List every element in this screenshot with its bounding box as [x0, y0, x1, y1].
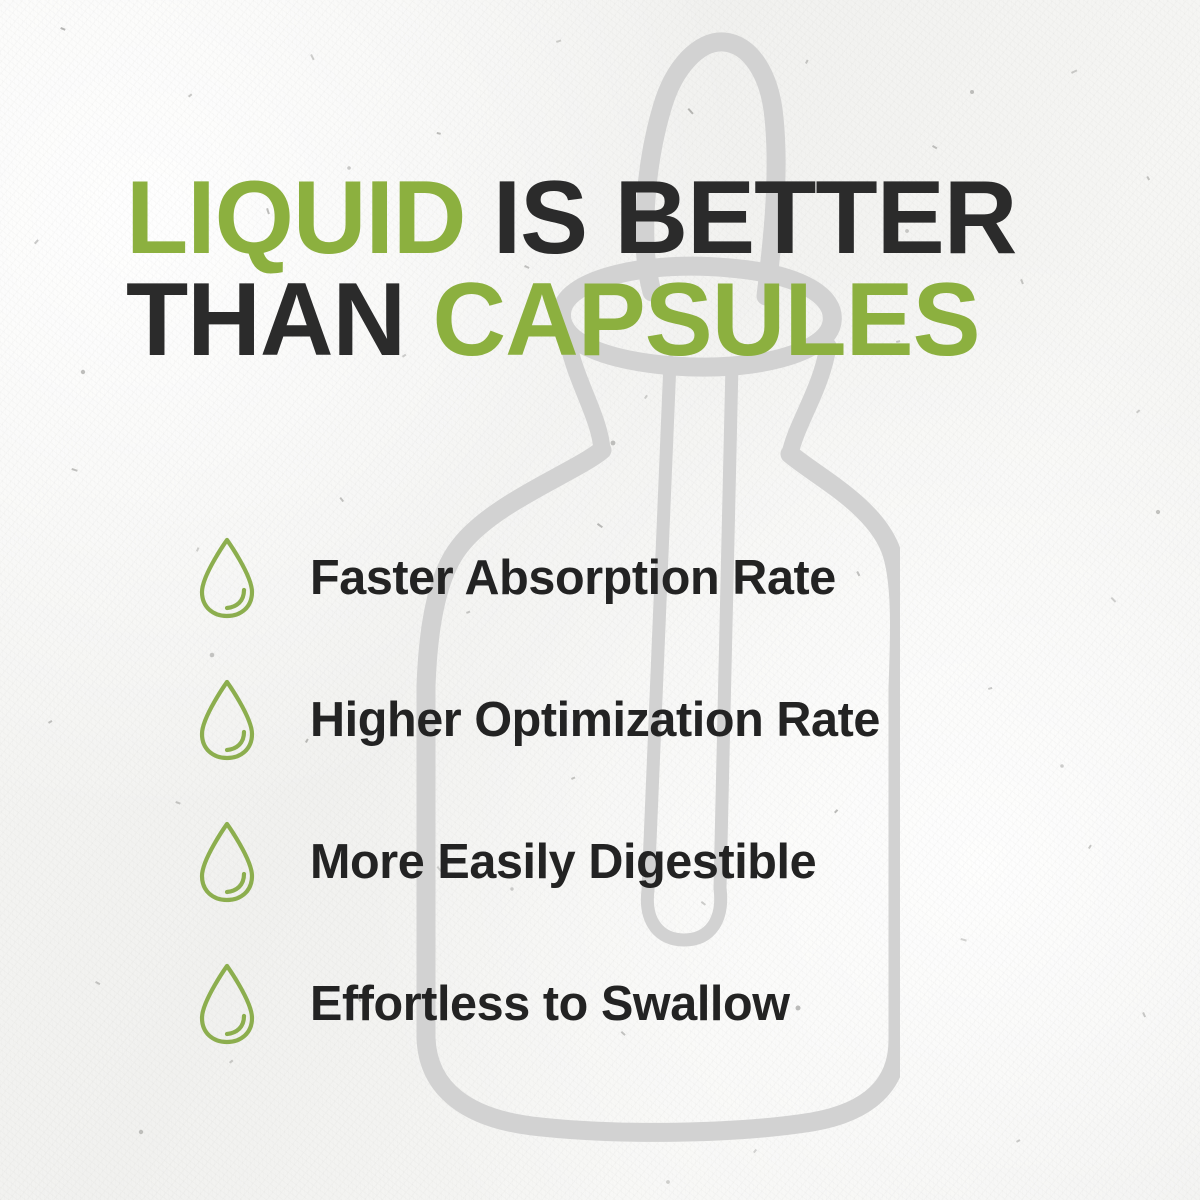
headline-word-is-better: IS BETTER	[493, 160, 1016, 276]
product-benefits-poster: LIQUID IS BETTER THAN CAPSULES Faster Ab…	[0, 0, 1200, 1200]
headline-line-2: THAN CAPSULES	[126, 270, 1096, 372]
headline-word-capsules: CAPSULES	[432, 262, 979, 378]
list-item: Higher Optimization Rate	[196, 672, 1156, 768]
headline-word-liquid: LIQUID	[126, 160, 465, 276]
list-item: Effortless to Swallow	[196, 956, 1156, 1052]
headline: LIQUID IS BETTER THAN CAPSULES	[126, 168, 1116, 372]
list-item-label: Higher Optimization Rate	[310, 692, 880, 748]
headline-line-1: LIQUID IS BETTER	[126, 168, 1096, 270]
droplet-icon	[196, 819, 258, 905]
droplet-icon	[196, 961, 258, 1047]
list-item-label: Effortless to Swallow	[310, 976, 790, 1032]
droplet-icon	[196, 535, 258, 621]
droplet-icon	[196, 677, 258, 763]
list-item: Faster Absorption Rate	[196, 530, 1156, 626]
list-item-label: Faster Absorption Rate	[310, 550, 836, 606]
benefits-list: Faster Absorption Rate Higher Optimizati…	[196, 530, 1156, 1052]
list-item-label: More Easily Digestible	[310, 834, 816, 890]
list-item: More Easily Digestible	[196, 814, 1156, 910]
headline-word-than: THAN	[126, 262, 405, 378]
